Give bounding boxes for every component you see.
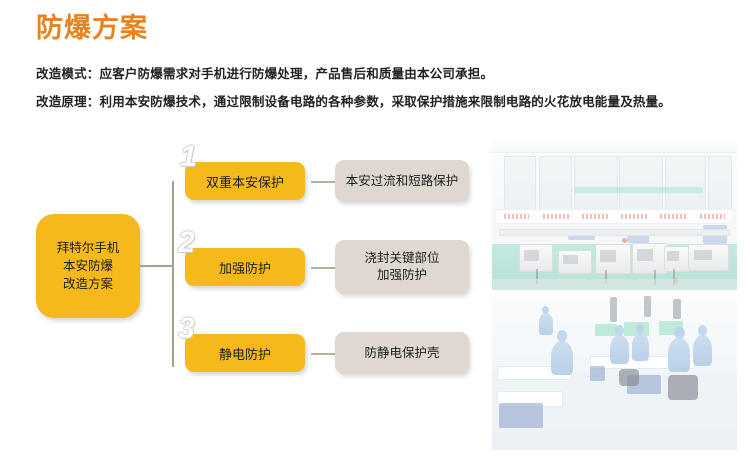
root-node-line-2: 本安防爆: [63, 257, 113, 275]
branch-node-3-label: 静电防护: [219, 344, 271, 363]
branch-node-2[interactable]: 加强防护: [185, 248, 305, 286]
connector-vertical-spine: [172, 181, 174, 367]
solution-diagram: 拜特尔手机 本安防爆 改造方案 双重本安保护 1 本安过流和短路保护 加强防护 …: [0, 128, 500, 458]
banner-text-block: [621, 214, 647, 219]
lab-wall-banner: [497, 209, 732, 223]
banner-text-block: [660, 214, 686, 219]
lab-shelf: [499, 229, 729, 236]
root-node-line-3: 改造方案: [63, 275, 113, 293]
banner-text-block: [582, 214, 608, 219]
worker-figure: [551, 341, 573, 375]
worker-figure: [539, 313, 554, 335]
branch-node-2-label: 加强防护: [219, 258, 271, 277]
lab-instrument: [688, 244, 729, 270]
lab-window: [708, 156, 732, 213]
production-green-panel: [595, 324, 617, 336]
detail-node-3-line-1: 防静电保护壳: [364, 345, 439, 362]
description-line-principle: 改造原理：利用本安防爆技术，通过限制设备电路的各种参数，采取保护措施来限制电路的…: [36, 91, 671, 110]
connector-root-horizontal: [140, 265, 173, 267]
lab-oscilloscope: [595, 244, 631, 273]
detail-node-2-line-1: 浇封关键部位: [364, 250, 439, 267]
detail-node-2-line-2: 加强防护: [377, 267, 427, 284]
office-chair: [668, 375, 697, 400]
photo-column: [492, 138, 737, 450]
cleanroom-duct: [644, 296, 651, 318]
root-node-line-1: 拜特尔手机: [57, 239, 120, 257]
lab-instrument: [558, 250, 592, 273]
detail-node-1-line-1: 本安过流和短路保护: [346, 173, 459, 190]
page-title: 防爆方案: [36, 14, 148, 44]
branch-node-3[interactable]: 静电防护: [185, 334, 305, 372]
branch-node-1[interactable]: 双重本安保护: [185, 162, 305, 200]
lab-test-equipment-photo: [492, 138, 737, 290]
lab-floor: [492, 279, 737, 290]
banner-text-block: [543, 214, 569, 219]
production-cabinet: [590, 366, 605, 382]
worker-figure: [693, 335, 713, 366]
connector-stub-2: [311, 267, 335, 269]
connector-stub-1: [311, 181, 335, 183]
lab-window: [574, 156, 618, 213]
lab-window: [619, 156, 663, 213]
lab-power-supply: [664, 246, 691, 272]
cleanroom-duct: [610, 297, 617, 322]
worker-figure: [610, 335, 630, 365]
cleanroom-duct: [673, 299, 680, 319]
detail-node-3[interactable]: 防静电保护壳: [335, 332, 469, 374]
cleanroom-production-line-photo: [492, 294, 737, 450]
connector-stub-3: [311, 353, 335, 355]
lab-green-partition: [575, 187, 702, 193]
banner-text-block: [504, 214, 530, 219]
lab-instrument: [632, 243, 668, 274]
detail-node-2[interactable]: 浇封关键部位 加强防护: [335, 240, 469, 294]
office-chair: [619, 369, 639, 386]
banner-text-block: [700, 214, 726, 219]
lab-ceiling: [492, 138, 737, 153]
lab-window: [665, 156, 706, 213]
lab-window: [539, 156, 573, 213]
lab-window: [504, 156, 535, 213]
worker-figure: [668, 338, 690, 372]
production-cabinet: [499, 403, 543, 428]
lab-indicator-light: [622, 238, 627, 243]
description-line-mode: 改造模式：应客户防爆需求对手机进行防爆处理，产品售后和质量由本公司承担。: [36, 63, 493, 82]
slide-canvas: 防爆方案 改造模式：应客户防爆需求对手机进行防爆处理，产品售后和质量由本公司承担…: [0, 0, 750, 474]
detail-node-1[interactable]: 本安过流和短路保护: [335, 160, 469, 202]
worker-figure: [632, 333, 649, 361]
cleanroom-scene: [492, 294, 737, 450]
lab-scene: [492, 138, 737, 290]
root-node[interactable]: 拜特尔手机 本安防爆 改造方案: [36, 214, 140, 318]
branch-node-1-label: 双重本安保护: [206, 172, 284, 191]
